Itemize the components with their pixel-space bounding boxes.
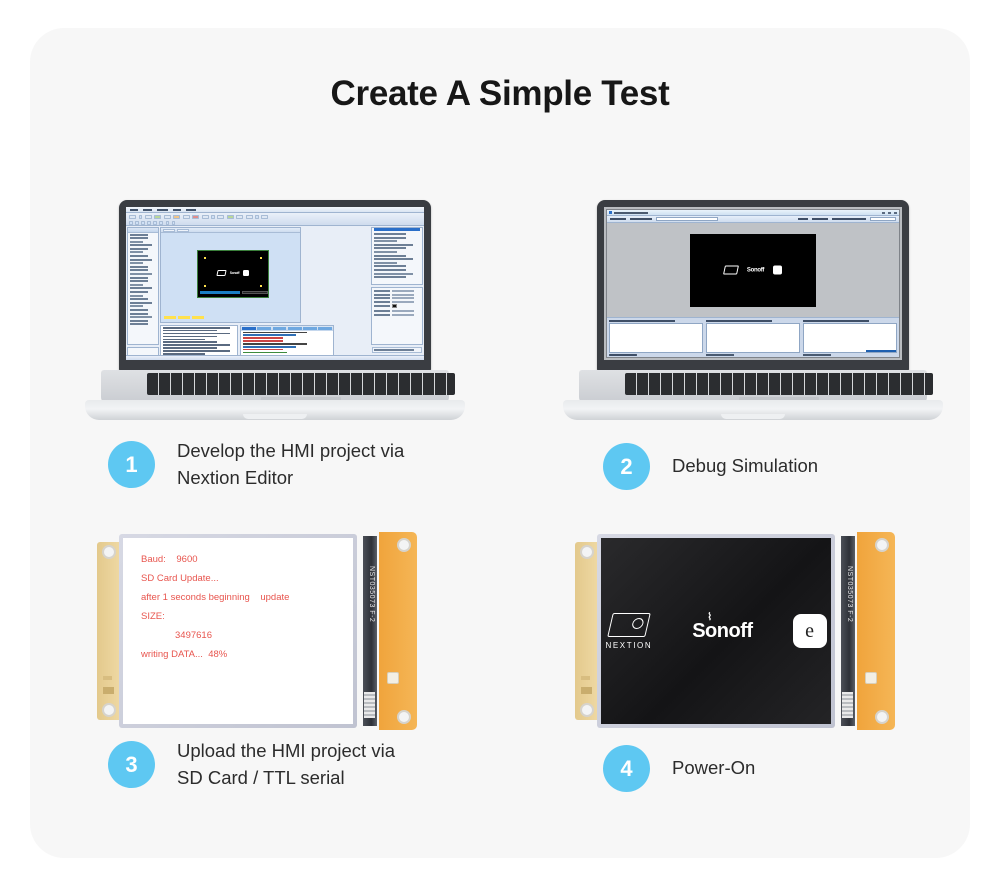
nextion-logo: NEXTION (605, 613, 652, 650)
toolbar-button[interactable] (147, 221, 151, 225)
attribute-row[interactable] (372, 310, 422, 312)
event-tab[interactable] (288, 327, 302, 330)
pcb-component (581, 676, 590, 680)
ewelink-letter: e (805, 620, 814, 643)
laptop-lid-2: Sonoff (597, 200, 909, 372)
toolbar-label-memory (812, 218, 828, 220)
ewelink-logo-icon: e (793, 614, 827, 648)
maximize-icon[interactable] (888, 212, 891, 214)
close-icon[interactable] (894, 212, 897, 214)
toolbar-row-secondary[interactable] (129, 221, 175, 225)
mounting-hole-icon (397, 710, 411, 724)
toolbar-button[interactable] (183, 215, 190, 219)
simulator-display-preview[interactable]: Sonoff (690, 234, 816, 307)
canvas-tabs[interactable] (161, 228, 300, 233)
laptop-deck (579, 370, 927, 404)
panel-upload-hmi: Baud: 9600 SD Card Update... after 1 sec… (75, 520, 475, 820)
lcd-line-size-label: SIZE: (141, 611, 289, 622)
mounting-hole-icon (580, 703, 594, 717)
lcd-screen-upload: Baud: 9600 SD Card Update... after 1 sec… (123, 538, 353, 724)
panel-power-on: NEXTION ⌇ Sonoff e NST035073 F-2 (553, 520, 953, 820)
mounting-hole-icon (102, 545, 116, 559)
page-title: Create A Simple Test (0, 74, 1000, 114)
toolbar-label-send-command (630, 218, 652, 220)
board-model-label: NST035073 F-2 (368, 566, 375, 622)
mounting-hole-icon (875, 538, 889, 552)
panel-footnote (803, 354, 831, 356)
toolbar-label-size (798, 218, 808, 220)
lcd-line-writing-progress: writing DATA... 48% (141, 649, 289, 660)
step-4-badge: 4 (603, 745, 650, 792)
canvas-tab[interactable] (163, 229, 175, 232)
debug-simulator-window: Sonoff (604, 207, 902, 360)
sonoff-logo: ⌇ Sonoff (692, 620, 752, 643)
simulator-target-select[interactable] (656, 217, 718, 221)
step-4-caption: 4 Power-On (603, 745, 755, 792)
signal-wave-icon: ⌇ (707, 612, 711, 623)
toolbar-button[interactable] (164, 215, 171, 219)
nextion-editor-window: Sonoff (126, 207, 424, 360)
step-1-caption: 1 Develop the HMI project via Nextion Ed… (108, 438, 404, 492)
editor-canvas-panel[interactable]: Sonoff (160, 227, 301, 323)
pcb-component (103, 687, 114, 694)
simulator-return-data-area[interactable] (706, 320, 800, 356)
lcd-screen-powered: NEXTION ⌇ Sonoff e (601, 538, 831, 724)
simulator-stage: Sonoff (607, 223, 899, 317)
step-1-label: Develop the HMI project via Nextion Edit… (177, 438, 404, 492)
toolbar-button[interactable] (261, 215, 268, 219)
ewelink-logo-icon (773, 266, 782, 275)
laptop-screen-1: Sonoff (126, 207, 424, 360)
simulator-title-text (614, 212, 648, 214)
instruction-input-area[interactable] (609, 320, 703, 356)
pcb-component (103, 676, 112, 680)
lcd-line-countdown: after 1 seconds beginning update (141, 592, 289, 603)
event-tab[interactable] (273, 327, 287, 330)
nextion-wordmark: NEXTION (605, 641, 652, 650)
app-icon (609, 211, 612, 214)
toolbar-button[interactable] (141, 221, 145, 225)
simulator-io-panels (607, 317, 899, 357)
nextion-board-uploading: Baud: 9600 SD Card Update... after 1 sec… (97, 532, 417, 730)
ewelink-logo-icon (243, 270, 249, 276)
nextion-logo-icon (723, 266, 739, 275)
page-root: Create A Simple Test (0, 0, 1000, 885)
laptop-deck (101, 370, 449, 404)
panel-label (706, 320, 772, 322)
toolbar-button[interactable] (139, 215, 143, 219)
mounting-hole-icon (580, 545, 594, 559)
toolbar-button[interactable] (246, 215, 253, 219)
toolbar-button[interactable] (217, 215, 224, 219)
laptop-front-notch (721, 414, 785, 419)
attribute-row[interactable] (372, 301, 422, 303)
laptop-base-1 (75, 370, 475, 422)
laptop-keyboard[interactable] (625, 373, 933, 395)
toolbar-button[interactable] (153, 221, 157, 225)
editor-toolbox-panel[interactable] (127, 227, 159, 345)
lcd-upload-log: Baud: 9600 SD Card Update... after 1 sec… (141, 554, 289, 660)
editor-attribute-panel[interactable] (371, 287, 423, 345)
step-4-label: Power-On (672, 755, 755, 782)
panel-label (803, 320, 869, 322)
step-3-label: Upload the HMI project via SD Card / TTL… (177, 738, 395, 792)
simulator-toolbar[interactable] (607, 216, 899, 223)
editor-hint-box (372, 347, 422, 353)
toolbar-button[interactable] (211, 215, 215, 219)
laptop-screen-2: Sonoff (604, 207, 902, 360)
attribute-row[interactable] (372, 290, 422, 292)
mounting-hole-icon (875, 710, 889, 724)
nextion-board-powered: NEXTION ⌇ Sonoff e NST035073 F-2 (575, 532, 895, 730)
lcd-line-sd-update: SD Card Update... (141, 573, 289, 584)
mounting-hole-icon (102, 703, 116, 717)
nextion-homepage-link[interactable] (866, 350, 896, 352)
sonoff-logo-text: Sonoff (230, 271, 240, 275)
ribbon-connector-icon (364, 692, 375, 718)
mcu-return-box[interactable] (803, 323, 897, 353)
sonoff-logo-text: Sonoff (747, 267, 764, 273)
event-tab[interactable] (257, 327, 271, 330)
panel-develop-hmi: Sonoff (75, 200, 475, 500)
laptop-illustration-2: Sonoff (553, 200, 953, 422)
editor-page-list-panel[interactable] (371, 227, 423, 285)
preview-status-box (242, 291, 268, 294)
connection-status-text (610, 354, 636, 356)
simulator-return-box[interactable] (706, 323, 800, 353)
toolbar-button[interactable] (255, 215, 259, 219)
laptop-illustration-1: Sonoff (75, 200, 475, 422)
window-controls[interactable] (882, 212, 897, 214)
step-2-label: Debug Simulation (672, 453, 818, 480)
pcb-left-edge (575, 542, 599, 720)
simulator-mode-select[interactable] (870, 217, 896, 221)
canvas-page-preview[interactable]: Sonoff (197, 250, 269, 298)
toolbar-button[interactable] (129, 221, 133, 225)
editor-status-bar (126, 355, 424, 360)
panel-debug-simulation: Sonoff (553, 200, 953, 500)
panel-footnote (706, 354, 734, 356)
nextion-logo-icon (216, 270, 226, 276)
event-tab[interactable] (303, 327, 317, 330)
toolbar-button[interactable] (236, 215, 243, 219)
toolbar-button[interactable] (135, 221, 139, 225)
color-swatch[interactable] (392, 304, 397, 308)
sonoff-wordmark: Sonoff (692, 620, 752, 642)
laptop-base-2 (553, 370, 953, 422)
event-tab[interactable] (318, 327, 332, 330)
instruction-input-box[interactable] (609, 323, 703, 353)
toolbar-button[interactable] (192, 215, 199, 219)
panel-label (609, 320, 675, 322)
preview-progress-bar (200, 291, 240, 294)
lcd-bezel: Baud: 9600 SD Card Update... after 1 sec… (119, 534, 357, 728)
attribute-row[interactable] (372, 314, 422, 316)
simulator-frame: Sonoff (606, 209, 900, 358)
pcb-right-flex (379, 532, 417, 730)
step-1-badge: 1 (108, 441, 155, 488)
editor-toolbar[interactable] (126, 213, 424, 226)
toolbar-button[interactable] (154, 215, 161, 219)
laptop-keyboard[interactable] (147, 373, 455, 395)
toolbar-row-primary[interactable] (129, 215, 268, 219)
nextion-mark-icon (607, 613, 651, 637)
toolbar-button[interactable] (172, 221, 176, 225)
laptop-front-notch (243, 414, 307, 419)
toolbar-label-instruction (832, 218, 866, 220)
toolbox-list[interactable] (128, 233, 158, 327)
page-list[interactable] (372, 232, 422, 279)
canvas-tab[interactable] (177, 229, 189, 232)
toolbar-button[interactable] (227, 215, 234, 219)
pcb-component (581, 687, 592, 694)
preview-logo-row: Sonoff (198, 270, 268, 276)
preview-logo-row: Sonoff (690, 266, 816, 275)
toolbar-button[interactable] (166, 221, 170, 225)
laptop-lid-1: Sonoff (119, 200, 431, 372)
attribute-row[interactable] (372, 294, 422, 296)
toolbar-button[interactable] (159, 221, 163, 225)
board-white-connector (387, 672, 399, 684)
ribbon-connector-icon (842, 692, 853, 718)
pcb-left-edge (97, 542, 121, 720)
attribute-row-color[interactable] (372, 304, 422, 308)
step-2-caption: 2 Debug Simulation (603, 443, 818, 490)
toolbar-button[interactable] (129, 215, 136, 219)
board-white-connector (865, 672, 877, 684)
toolbar-button[interactable] (145, 215, 152, 219)
step-2-badge: 2 (603, 443, 650, 490)
toolbar-button[interactable] (173, 215, 180, 219)
minimize-icon[interactable] (882, 212, 885, 214)
event-tab[interactable] (242, 327, 256, 330)
page-list-selected-row[interactable] (374, 228, 420, 231)
attribute-row[interactable] (372, 297, 422, 299)
lcd-bezel: NEXTION ⌇ Sonoff e (597, 534, 835, 728)
mounting-hole-icon (397, 538, 411, 552)
step-3-caption: 3 Upload the HMI project via SD Card / T… (108, 738, 395, 792)
lcd-line-size-value: 3497616 (141, 630, 289, 641)
canvas-footer-chips[interactable] (164, 316, 204, 319)
toolbar-button[interactable] (202, 215, 209, 219)
board-model-label: NST035073 F-2 (846, 566, 853, 622)
toolbar-menu-operation[interactable] (610, 218, 626, 220)
lcd-line-baud: Baud: 9600 (141, 554, 289, 565)
step-3-badge: 3 (108, 741, 155, 788)
pcb-right-flex (857, 532, 895, 730)
